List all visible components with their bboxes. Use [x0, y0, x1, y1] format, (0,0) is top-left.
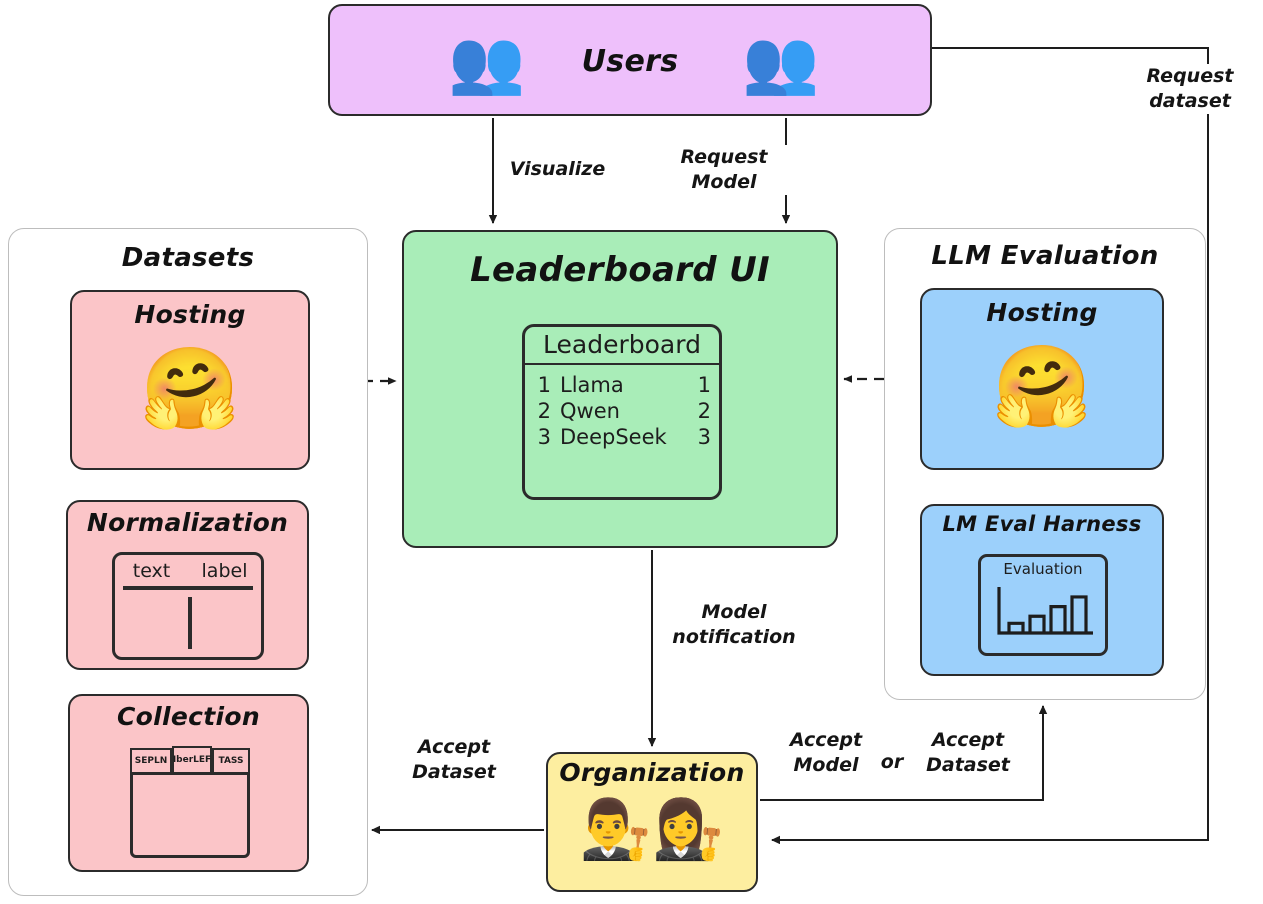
edge-label-model-notification: Model notification [660, 600, 808, 650]
edge-label-accept-model: Accept Model [778, 728, 874, 778]
line-2: dataset [1128, 89, 1252, 114]
users-label: Users [330, 6, 930, 118]
dataset-normalization-node[interactable]: Normalization text label [66, 500, 309, 670]
hugging-face-icon: 🤗 [72, 344, 308, 434]
judge-man-icon: 👨‍⚖️ [580, 795, 652, 863]
leaderboard-table: 1 Llama 1 2 Qwen 2 3 DeepSeek 3 [525, 372, 719, 450]
line-1: Request [1128, 64, 1252, 89]
leaderboard-card[interactable]: Leaderboard 1 Llama 1 2 Qwen 2 3 DeepSee… [522, 324, 722, 500]
judge-woman-icon: 👩‍⚖️ [652, 795, 724, 863]
normalization-table-icon: text label [112, 552, 264, 660]
row-model: Qwen [560, 398, 689, 424]
line-2: notification [660, 625, 808, 650]
line-1: Model [660, 600, 808, 625]
dataset-collection-node[interactable]: Collection SEPLN IberLEF TASS [68, 694, 309, 872]
normalization-divider [188, 597, 192, 649]
folder-tab-iberlef: IberLEF [172, 746, 212, 774]
normalization-rule [123, 586, 253, 590]
bar-chart-icon [981, 579, 1105, 641]
evaluation-chart-title: Evaluation [981, 557, 1105, 578]
organization-node[interactable]: Organization 👨‍⚖️👩‍⚖️ [546, 752, 758, 892]
eval-harness-label: LM Eval Harness [922, 512, 1162, 536]
edge-label-or: or [874, 750, 910, 775]
eval-hosting-node[interactable]: Hosting 🤗 [920, 288, 1164, 470]
normalization-column-label: label [188, 560, 261, 582]
edge-label-accept-dataset-left: Accept Dataset [390, 735, 518, 785]
row-rank: 3 [525, 424, 560, 450]
eval-hosting-label: Hosting [922, 298, 1162, 327]
eval-harness-node[interactable]: LM Eval Harness Evaluation [920, 504, 1164, 676]
users-group-icon: 👥 [742, 26, 819, 98]
line-1: Accept [778, 728, 874, 753]
line-2: Dataset [390, 760, 518, 785]
users-group-icon: 👥 [448, 26, 525, 98]
line-1: Request [660, 145, 788, 170]
row-score: 2 [689, 398, 719, 424]
line-2: Model [660, 170, 788, 195]
row-rank: 2 [525, 398, 560, 424]
edge-label-request-dataset: Request dataset [1128, 64, 1252, 114]
table-row[interactable]: 1 Llama 1 [525, 372, 719, 398]
edge-label-request-model: Request Model [660, 145, 788, 195]
table-row[interactable]: 2 Qwen 2 [525, 398, 719, 424]
dataset-collection-label: Collection [70, 702, 307, 731]
evaluation-chart-card: Evaluation [978, 554, 1108, 656]
folder-tab-tass: TASS [212, 748, 250, 774]
datasets-panel-label: Datasets [9, 243, 367, 273]
folder-tab-sepln: SEPLN [130, 748, 172, 774]
leaderboard-ui-node[interactable]: Leaderboard UI Leaderboard 1 Llama 1 2 Q… [402, 230, 838, 548]
hugging-face-icon: 🤗 [922, 342, 1162, 432]
line-2: Dataset [908, 753, 1028, 778]
row-score: 1 [689, 372, 719, 398]
normalization-column-text: text [115, 560, 188, 582]
bar-2 [1030, 616, 1044, 633]
leaderboard-ui-label: Leaderboard UI [404, 250, 836, 290]
bar-4 [1072, 597, 1086, 633]
diagram-canvas: 👥 Users 👥 Datasets Hosting 🤗 Normalizati… [0, 0, 1263, 904]
dataset-hosting-node[interactable]: Hosting 🤗 [70, 290, 310, 470]
folder-icon: SEPLN IberLEF TASS [126, 748, 254, 858]
organization-label: Organization [548, 758, 756, 787]
row-model: DeepSeek [560, 424, 689, 450]
line-1: Accept [908, 728, 1028, 753]
leaderboard-card-header: Leaderboard [525, 327, 719, 365]
dataset-normalization-label: Normalization [68, 508, 307, 537]
edge-label-accept-dataset-right: Accept Dataset [908, 728, 1028, 778]
bar-3 [1051, 607, 1065, 633]
row-rank: 1 [525, 372, 560, 398]
row-score: 3 [689, 424, 719, 450]
folder-body [130, 772, 250, 858]
line-2: Model [778, 753, 874, 778]
users-node[interactable]: 👥 Users 👥 [328, 4, 932, 116]
line-1: Accept [390, 735, 518, 760]
llm-evaluation-panel-label: LLM Evaluation [885, 241, 1205, 271]
table-row[interactable]: 3 DeepSeek 3 [525, 424, 719, 450]
dataset-hosting-label: Hosting [72, 300, 308, 329]
organization-icons: 👨‍⚖️👩‍⚖️ [548, 798, 756, 860]
edge-label-visualize: Visualize [500, 157, 615, 182]
row-model: Llama [560, 372, 689, 398]
